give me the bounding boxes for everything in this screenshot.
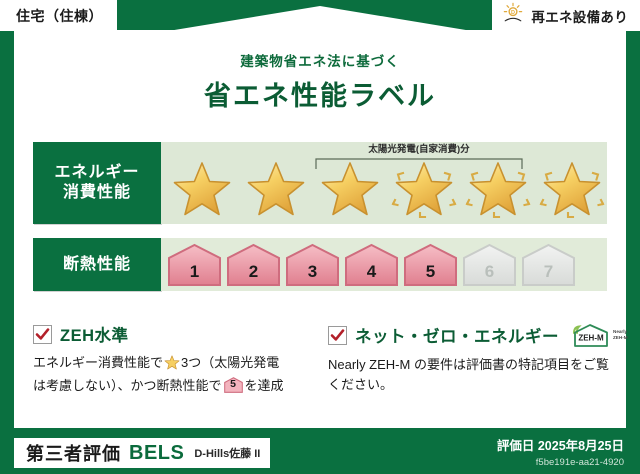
insulation-level-6: 6 [462,243,517,287]
insulation-level-4-value: 4 [344,243,399,287]
insulation-level-3-value: 3 [285,243,340,287]
zeh-standard-block: ZEH水準 エネルギー消費性能で3つ（太陽光発電 は考慮しない）、かつ断熱性能で… [33,322,318,396]
star-2 [239,158,313,220]
svg-text:D: D [511,10,515,16]
renewable-equipment-tab: D 再エネ設備あり [492,0,640,31]
net-zero-energy-title: ネット・ゼロ・エネルギー [355,323,559,347]
solar-bracket-caption: 太陽光発電(自家消費)分 [311,141,527,155]
label-title-block: 建築物省エネ法に基づく 省エネ性能ラベル [0,50,640,113]
svg-text:ZEH-M: ZEH-M [578,334,604,343]
net-zero-checkbox-checked-icon [328,326,347,345]
energy-label-line1: エネルギー [54,163,139,183]
zeh-desc-part2: は考慮しない）、かつ断熱性能で [33,378,222,393]
insulation-level-5-value: 5 [403,243,458,287]
energy-label-line2: 消費性能 [63,183,131,203]
footer-bar: 第三者評価 BELS D-Hills佐藤 II 評価日 2025年8月25日 f… [0,428,640,474]
property-name: D-Hills佐藤 II [192,445,260,461]
insulation-level-6-value: 6 [462,243,517,287]
insulation-performance-label: 断熱性能 [33,238,161,291]
insulation-level-2: 2 [226,243,281,287]
star-1 [165,158,239,220]
energy-label-card: 住宅（住棟） D 再エネ設備あり 建築物省エネ法に基づく 省エネ性能ラベル [0,0,640,474]
dwelling-type-tab: 住宅（住棟） [0,0,117,31]
zeh-standard-header: ZEH水準 [33,322,318,346]
inline-star-icon [164,355,180,376]
zeh-desc-star-count: 3つ（太陽光発電 [181,355,279,370]
insulation-level-2-value: 2 [226,243,281,287]
inline-insulation-badge: 5 [224,377,243,393]
star-rating-group [161,158,607,220]
renewable-equipment-label: 再エネ設備あり [531,6,628,26]
net-zero-energy-description: Nearly ZEH-M の要件は評価書の特記項目をご覧ください。 [328,355,613,395]
label-main-title: 省エネ性能ラベル [0,74,640,113]
insulation-level-5: 5 [403,243,458,287]
zeh-standard-description: エネルギー消費性能で3つ（太陽光発電 は考慮しない）、かつ断熱性能で5を達成 [33,353,318,396]
svg-text:ZEH-M: ZEH-M [613,335,628,340]
insulation-level-7: 7 [521,243,576,287]
bels-scheme-label: BELS [129,442,184,465]
insulation-level-3: 3 [285,243,340,287]
star-3 [313,158,387,220]
svg-text:Nearly: Nearly [613,329,627,334]
energy-performance-label: エネルギー 消費性能 [33,142,161,224]
reference-code: f5be191e-aa21-4920 [536,457,624,468]
zeh-desc-part3: を達成 [245,378,284,393]
dwelling-type-label: 住宅（住棟） [16,6,103,26]
insulation-performance-body: 1 2 3 4 [161,238,607,291]
insulation-level-7-value: 7 [521,243,576,287]
energy-performance-body: 太陽光発電(自家消費)分 [161,142,607,224]
star-5-solar [461,158,535,220]
net-zero-energy-header: ネット・ゼロ・エネルギー ZEH-M Nearly ZEH-M [328,322,613,348]
bels-certification-plate: 第三者評価 BELS D-Hills佐藤 II [14,438,270,468]
zeh-m-logo: ZEH-M Nearly ZEH-M [569,322,635,348]
net-zero-energy-block: ネット・ゼロ・エネルギー ZEH-M Nearly ZEH-M Nearly Z… [328,322,613,395]
insulation-level-1: 1 [167,243,222,287]
insulation-level-group: 1 2 3 4 [167,238,607,291]
insulation-level-1-value: 1 [167,243,222,287]
insulation-performance-row: 断熱性能 1 [33,238,607,291]
label-subtitle: 建築物省エネ法に基づく [0,50,640,70]
zeh-standard-title: ZEH水準 [60,322,129,346]
star-4-solar [387,158,461,220]
zeh-standard-checkbox-checked-icon [33,325,52,344]
energy-performance-row: エネルギー 消費性能 太陽光発電(自家消費)分 [33,142,607,224]
zeh-desc-part1: エネルギー消費性能で [33,355,163,370]
solar-sun-icon: D [502,2,524,29]
insulation-label-line1: 断熱性能 [63,255,131,275]
third-party-eval-label: 第三者評価 [26,440,121,466]
inline-badge-value: 5 [224,377,243,393]
evaluation-date: 評価日 2025年8月25日 [497,435,624,454]
star-6-solar [535,158,609,220]
insulation-level-4: 4 [344,243,399,287]
